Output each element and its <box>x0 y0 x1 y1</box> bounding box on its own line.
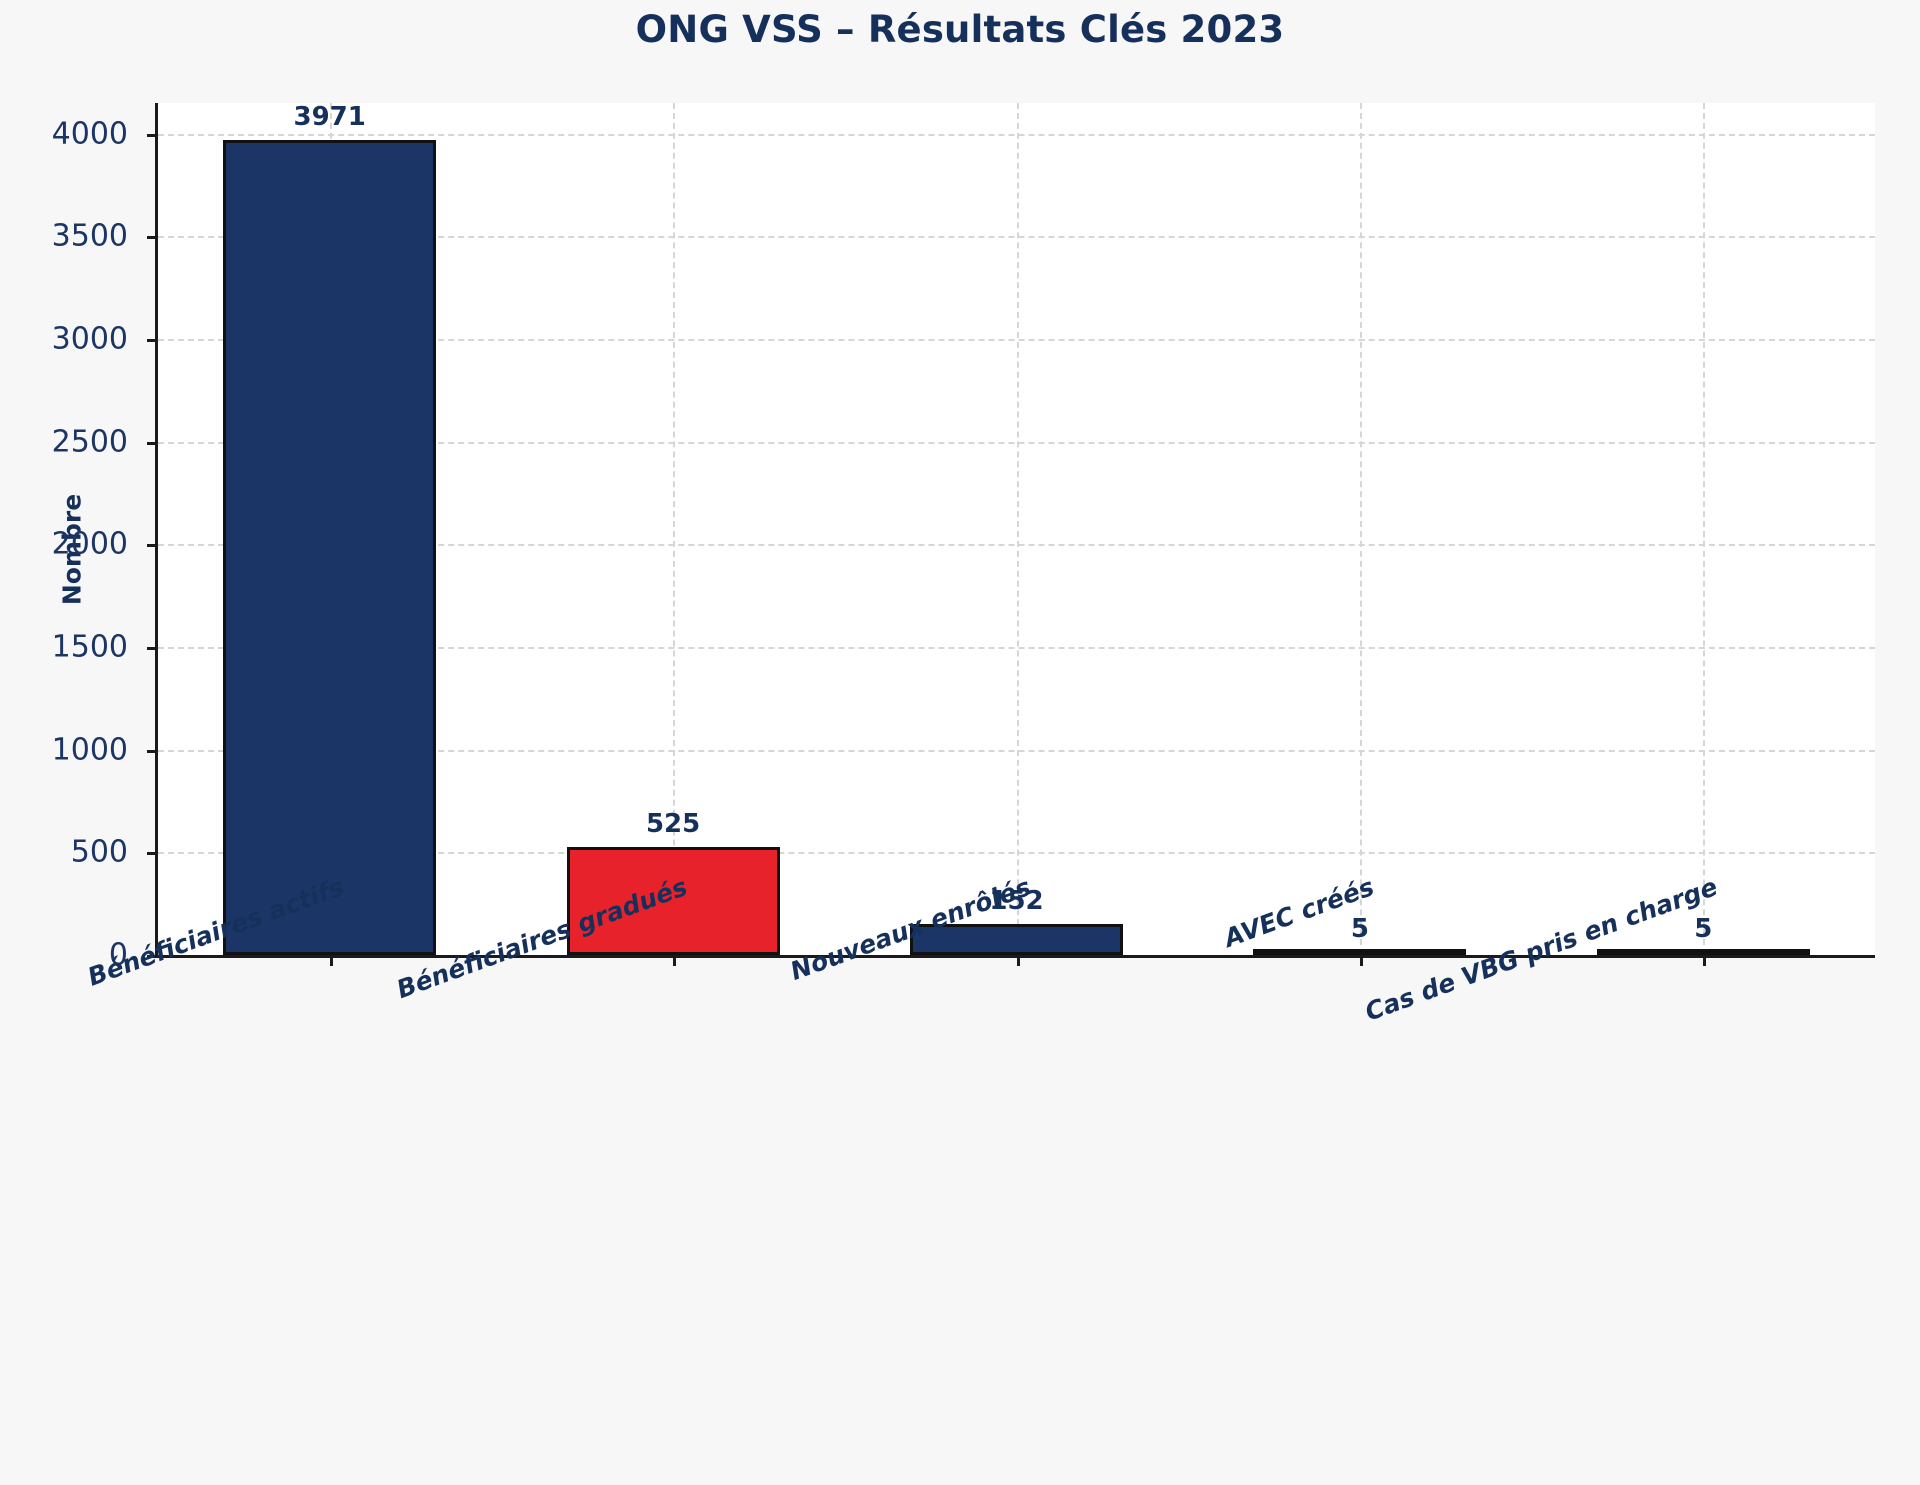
bar-value-label-2: 525 <box>646 809 700 839</box>
y-tick-mark <box>147 852 158 855</box>
bar-value-label-4: 5 <box>1351 914 1369 944</box>
y-tick-label: 1500 <box>0 630 128 665</box>
y-tick-label: 4000 <box>0 116 128 151</box>
bar-1[interactable] <box>223 140 436 955</box>
chart-figure: ONG VSS – Résultats Clés 2023 Nombre 050… <box>0 0 1920 1145</box>
gridline-vertical <box>1360 103 1362 955</box>
plot-inner <box>158 103 1875 955</box>
gridline-vertical <box>1703 103 1705 955</box>
x-tick-mark <box>673 955 676 966</box>
y-tick-label: 500 <box>0 835 128 870</box>
y-tick-mark <box>147 339 158 342</box>
x-tick-mark <box>1360 955 1363 966</box>
y-tick-label: 2000 <box>0 527 128 562</box>
x-tick-mark <box>1017 955 1020 966</box>
y-tick-mark <box>147 647 158 650</box>
chart-title: ONG VSS – Résultats Clés 2023 <box>0 8 1920 51</box>
y-tick-mark <box>147 134 158 137</box>
y-tick-mark <box>147 442 158 445</box>
x-tick-mark <box>330 955 333 966</box>
y-tick-label: 1000 <box>0 732 128 767</box>
y-tick-mark <box>147 750 158 753</box>
y-tick-label: 3500 <box>0 219 128 254</box>
y-tick-label: 2500 <box>0 424 128 459</box>
y-tick-mark <box>147 236 158 239</box>
bar-value-label-1: 3971 <box>294 102 366 132</box>
x-tick-label-5: Cas de VBG pris en charge <box>103 872 1721 1485</box>
y-tick-mark <box>147 544 158 547</box>
x-tick-mark <box>1703 955 1706 966</box>
gridline-vertical <box>1017 103 1019 955</box>
plot-area <box>155 103 1875 958</box>
bar-value-label-5: 5 <box>1694 914 1712 944</box>
y-tick-label: 3000 <box>0 322 128 357</box>
